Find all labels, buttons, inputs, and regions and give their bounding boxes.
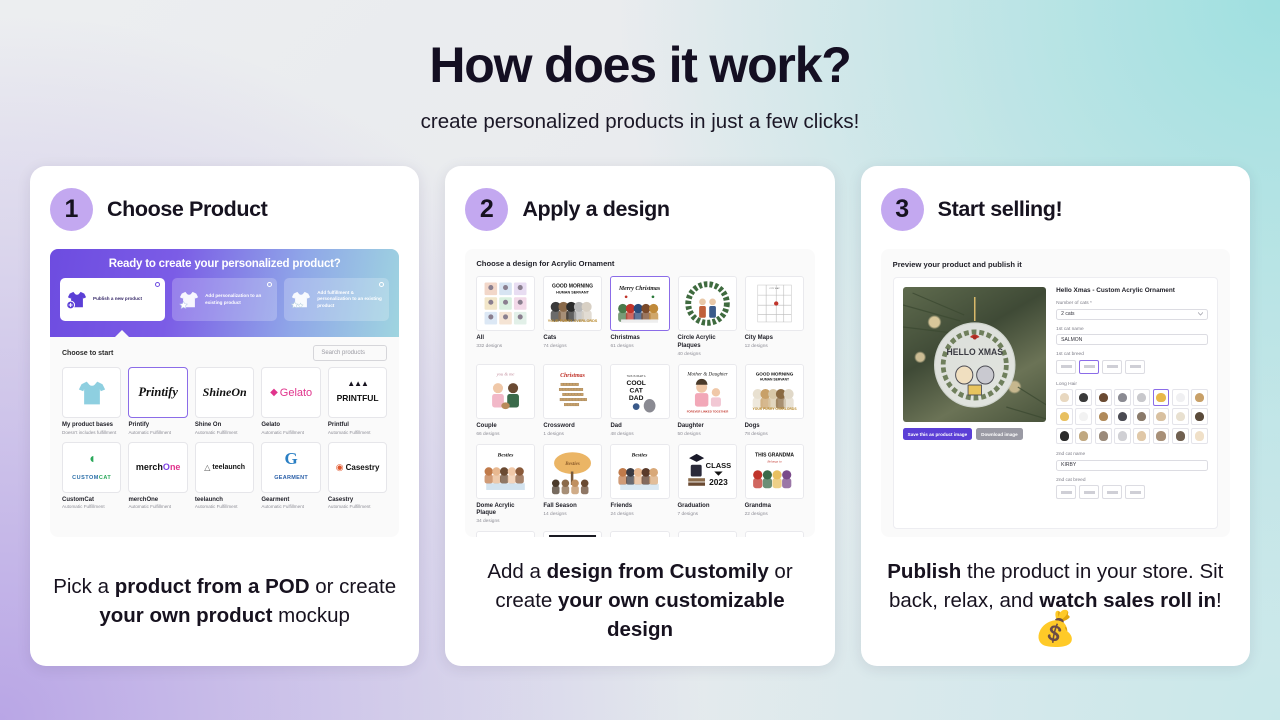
pod-provider-name: Printful	[328, 422, 387, 428]
choose-to-start-bar: Choose to start Search products	[50, 337, 399, 367]
caption-strong: your own product	[99, 604, 272, 627]
pod-provider-name: Gelato	[261, 422, 320, 428]
design-grid: All332 designsGOOD MORNINGHUMAN SERVANTY…	[476, 276, 803, 537]
design-count: 66 designs	[476, 432, 535, 437]
design-category-name: Dad	[610, 423, 669, 431]
design-thumbnail: you & me	[476, 364, 535, 419]
design-category-name: Grandma	[745, 503, 804, 511]
pod-provider-name: merchOne	[128, 497, 187, 503]
design-count: 40 designs	[678, 352, 737, 357]
pod-provider-name: Printify	[128, 422, 187, 428]
design-thumbnail: GOOD MORNINGHUMAN SERVANTYOUR FURRY OVER…	[745, 364, 804, 419]
step-3-header: 3 Start selling!	[881, 188, 1230, 231]
design-category-card[interactable]: TELL MEI love you	[610, 531, 669, 537]
design-category-name: Fall Season	[543, 503, 602, 511]
pod-provider-card[interactable]: ▲▲▲PRINTFULPrintfulAutomatic Fulfillment	[328, 367, 387, 435]
pod-provider-logo: ◉Casestry	[328, 442, 387, 493]
pod-provider-name: My product bases	[62, 422, 121, 428]
svg-text:Besties: Besties	[497, 452, 514, 458]
step-1-header: 1 Choose Product	[50, 188, 399, 231]
svg-text:GOOD MORNING: GOOD MORNING	[755, 371, 793, 376]
pod-provider-logo: ▲▲▲PRINTFUL	[328, 367, 387, 418]
tshirt-star-icon	[178, 290, 200, 310]
svg-text:FOREVER LINKED TOGETHER: FOREVER LINKED TOGETHER	[686, 409, 728, 413]
caption-text: mockup	[272, 604, 349, 627]
pod-hero-banner: Ready to create your personalized produc…	[50, 249, 399, 337]
design-thumbnail: THIS GRANDMABelongs to	[745, 444, 804, 499]
svg-text:DAD: DAD	[629, 394, 644, 401]
steps-container: 1 Choose Product Ready to create your pe…	[0, 166, 1280, 666]
svg-text:THIS IS WHAT A: THIS IS WHAT A	[627, 375, 646, 378]
design-category-card[interactable]: Circle Acrylic Plaques40 designs	[678, 276, 737, 357]
cat-color-swatch[interactable]	[1056, 428, 1073, 445]
pod-provider-card[interactable]: ShineOnShine OnAutomatic Fulfillment	[195, 367, 254, 435]
design-category-card[interactable]: you & meCouple66 designs	[476, 364, 535, 437]
design-count: 24 designs	[610, 512, 669, 517]
step-card-1: 1 Choose Product Ready to create your pe…	[30, 166, 419, 666]
design-category-name: Cats	[543, 335, 602, 343]
caption-strong: your own customizable design	[558, 589, 785, 641]
preview-actions: Save this as product image Download imag…	[903, 428, 1047, 440]
choose-to-start-label: Choose to start	[62, 350, 113, 357]
cat-swatch-grid	[1056, 389, 1208, 444]
design-category-name: Daughter	[678, 423, 737, 431]
pod-provider-logo: ◖CUSTOMCAT	[62, 442, 121, 493]
pod-provider-name: Shine On	[195, 422, 254, 428]
pod-provider-logo: GGEARMENT	[261, 442, 320, 493]
design-thumbnail: TELL MEI love you	[610, 531, 669, 537]
caption-text: !	[1216, 589, 1222, 612]
second-cat-breed-chips	[1056, 485, 1208, 499]
svg-text:HUMAN SERVANT: HUMAN SERVANT	[557, 290, 590, 294]
caption-text: or create	[310, 575, 397, 598]
cat-color-swatch[interactable]	[1114, 408, 1131, 425]
cat-color-swatch[interactable]	[1075, 428, 1092, 445]
first-cat-name-input[interactable]: SALMON	[1056, 334, 1208, 345]
pod-provider-fulfillment: Automatic Fulfillment	[328, 430, 387, 435]
design-category-card[interactable]: TELL MEI love you	[745, 531, 804, 537]
caption-text: Add a	[487, 560, 546, 583]
design-category-card[interactable]: ChristmasCrossword1 designs	[543, 364, 602, 437]
svg-text:YOUR FURRY OVERLORDS: YOUR FURRY OVERLORDS	[548, 319, 598, 323]
step-caption-2: Add a design from Customily or create yo…	[465, 553, 814, 648]
pod-provider-name: Casestry	[328, 497, 387, 503]
cat-color-swatch[interactable]	[1075, 389, 1092, 406]
info-icon[interactable]	[379, 282, 384, 287]
design-category-card[interactable]: BestiesDome Acrylic Plaque34 designs	[476, 444, 535, 525]
design-category-card[interactable]: GOOD MORNINGHUMAN SERVANTYOUR FURRY OVER…	[745, 364, 804, 437]
pod-provider-logo	[62, 367, 121, 418]
svg-text:you & me: you & me	[496, 371, 515, 376]
step-title-1: Choose Product	[107, 197, 267, 222]
design-thumbnail: CITY MAP	[745, 276, 804, 331]
screenshot-design-picker: Choose a design for Acrylic Ornament All…	[465, 249, 814, 537]
svg-text:Merry Christmas: Merry Christmas	[618, 286, 661, 292]
pod-provider-fulfillment: Automatic Fulfillment	[128, 430, 187, 435]
design-count: 78 designs	[745, 432, 804, 437]
pod-provider-logo: ◆Gelato	[261, 367, 320, 418]
cat-color-swatch[interactable]	[1172, 389, 1189, 406]
select-value: 2 cats	[1061, 311, 1074, 317]
breed-chip[interactable]	[1056, 360, 1076, 374]
save-as-product-image-button[interactable]: Save this as product image	[903, 428, 972, 440]
pod-provider-card[interactable]: ◖CUSTOMCATCustomCatAutomatic Fulfillment	[62, 442, 121, 510]
money-bag-emoji: 💰	[1034, 610, 1076, 648]
svg-text:Christmas: Christmas	[561, 373, 586, 379]
design-thumbnail: GOOD MORNINGHUMAN SERVANTYOUR FURRY OVER…	[543, 276, 602, 331]
design-category-card[interactable]: TO THE MOON	[476, 531, 535, 537]
pod-provider-fulfillment: Automatic Fulfillment	[261, 504, 320, 509]
svg-text:HUMAN SERVANT: HUMAN SERVANT	[760, 377, 789, 381]
design-count: 1 designs	[543, 432, 602, 437]
pod-provider-fulfillment: Automatic Fulfillment	[62, 504, 121, 509]
step-caption-3: Publish the product in your store. Sit b…	[881, 553, 1230, 648]
svg-text:Besties: Besties	[565, 461, 581, 466]
design-count: 7 designs	[678, 512, 737, 517]
design-category-card[interactable]: CITY MAPCity Maps12 designs	[745, 276, 804, 357]
preview-image-column: HELLO XMAS Save this as product image Do…	[903, 287, 1047, 519]
design-count: 22 designs	[745, 512, 804, 517]
design-count: 34 designs	[476, 519, 535, 524]
design-category-card[interactable]: BestiesFriends24 designs	[610, 444, 669, 525]
screenshot-publish-preview: Preview your product and publish it	[881, 249, 1230, 537]
design-thumbnail: Besties	[543, 444, 602, 499]
cat-color-swatch[interactable]	[1133, 428, 1150, 445]
design-category-name: Circle Acrylic Plaques	[678, 335, 737, 350]
svg-text:2023: 2023	[709, 476, 728, 486]
breed-chip-selected[interactable]	[1079, 360, 1099, 374]
pod-provider-card[interactable]: merchOnemerchOneAutomatic Fulfillment	[128, 442, 187, 510]
screenshot-product-picker: Ready to create your personalized produc…	[50, 249, 399, 537]
svg-text:CLASS: CLASS	[705, 461, 731, 470]
pod-provider-name: Gearment	[261, 497, 320, 503]
design-category-name: Friends	[610, 503, 669, 511]
design-count: 61 designs	[610, 344, 669, 349]
download-image-button[interactable]: Download image	[976, 428, 1023, 440]
design-category-card[interactable]: Mother & DaughterFOREVER LINKED TOGETHER…	[678, 364, 737, 437]
design-thumbnail: CLASS2023	[678, 444, 737, 499]
pod-provider-card[interactable]: My product basesDoesn't includes fulfill…	[62, 367, 121, 435]
design-thumbnail	[476, 276, 535, 331]
second-cat-name-label: 2nd cat name	[1056, 452, 1208, 457]
info-icon[interactable]	[267, 282, 272, 287]
svg-text:Belongs to: Belongs to	[767, 459, 782, 463]
design-category-name: Christmas	[610, 335, 669, 343]
svg-text:Mother & Daughter: Mother & Daughter	[686, 372, 727, 377]
cat-color-swatch[interactable]	[1095, 428, 1112, 445]
input-value: KIRBY	[1061, 462, 1076, 468]
design-thumbnail: TO THE MOON	[476, 531, 535, 537]
pod-provider-card[interactable]: ◉CasestryCasestryAutomatic Fulfillment	[328, 442, 387, 510]
svg-text:YOUR FURRY OVERLORDS: YOUR FURRY OVERLORDS	[752, 406, 797, 410]
chevron-down-icon	[1198, 312, 1203, 316]
design-category-name: Dome Acrylic Plaque	[476, 503, 535, 518]
pod-provider-fulfillment: Doesn't includes fulfillment	[62, 430, 121, 435]
step-title-2: Apply a design	[522, 197, 669, 222]
design-category-card[interactable]: All332 designs	[476, 276, 535, 357]
design-category-card[interactable]: GOOD MORNINGHUMAN SERVANTYOUR FURRY OVER…	[543, 276, 602, 357]
pod-provider-logo: merchOne	[128, 442, 187, 493]
pod-provider-card[interactable]: ◆GelatoGelatoAutomatic Fulfillment	[261, 367, 320, 435]
design-category-card[interactable]: Merry ChristmasChristmas61 designs	[610, 276, 669, 357]
svg-text:THIS GRANDMA: THIS GRANDMA	[755, 452, 794, 458]
ornament-preview-image: HELLO XMAS	[903, 287, 1047, 422]
svg-text:HELLO XMAS: HELLO XMAS	[946, 347, 1003, 357]
design-thumbnail: Besties	[610, 444, 669, 499]
cat-color-swatch[interactable]	[1114, 389, 1131, 406]
product-name: Hello Xmas - Custom Acrylic Ornament	[1056, 287, 1208, 294]
step-card-2: 2 Apply a design Choose a design for Acr…	[445, 166, 834, 666]
design-category-name: Couple	[476, 423, 535, 431]
pod-provider-fulfillment: Automatic Fulfillment	[261, 430, 320, 435]
pod-provider-fulfillment: Automatic Fulfillment	[128, 504, 187, 509]
number-of-cats-select[interactable]: 2 cats	[1056, 309, 1208, 320]
design-thumbnail: Merry Christmas	[610, 276, 669, 331]
design-thumbnail: Christmas	[543, 364, 602, 419]
breed-chip[interactable]	[1125, 485, 1145, 499]
cat-color-swatch[interactable]	[1153, 408, 1170, 425]
pod-provider-fulfillment: Automatic Fulfillment	[328, 504, 387, 509]
design-count: 50 designs	[678, 432, 737, 437]
pod-provider-fulfillment: Automatic Fulfillment	[195, 430, 254, 435]
cat-color-swatch[interactable]	[1056, 408, 1073, 425]
pod-provider-logo: Printify	[128, 367, 187, 418]
design-category-name: City Maps	[745, 335, 804, 343]
step-card-3: 3 Start selling! Preview your product an…	[861, 166, 1250, 666]
design-thumbnail: PROUD MEMBER OFDogMom	[678, 531, 737, 537]
design-category-name: Crossword	[543, 423, 602, 431]
design-count: 14 designs	[543, 512, 602, 517]
second-cat-breed-label: 2nd cat breed	[1056, 478, 1208, 483]
page-subtitle: create personalized products in just a f…	[0, 110, 1280, 134]
design-thumbnail: THIS IS WHAT ACOOLCATDAD	[610, 364, 669, 419]
step-2-header: 2 Apply a design	[465, 188, 814, 231]
design-category-card[interactable]: PROUD MEMBER OFDogMom	[678, 531, 737, 537]
design-count: 74 designs	[543, 344, 602, 349]
design-thumbnail: TRICKTREAT	[543, 531, 602, 537]
pod-provider-logo: ShineOn	[195, 367, 254, 418]
cat-color-swatch[interactable]	[1133, 408, 1150, 425]
design-count: 332 designs	[476, 344, 535, 349]
design-category-card[interactable]: TRICKTREAT	[543, 531, 602, 537]
cat-color-swatch[interactable]	[1191, 408, 1208, 425]
design-thumbnail	[678, 276, 737, 331]
design-category-name: Dogs	[745, 423, 804, 431]
preview-title: Preview your product and publish it	[893, 260, 1218, 269]
breed-chip[interactable]	[1056, 485, 1076, 499]
info-icon[interactable]	[155, 282, 160, 287]
design-thumbnail: Mother & DaughterFOREVER LINKED TOGETHER	[678, 364, 737, 419]
number-of-cats-label: Number of cats *	[1056, 301, 1208, 306]
caption-text: Pick a	[53, 575, 115, 598]
first-cat-breed-chips	[1056, 360, 1208, 374]
svg-text:Besties: Besties	[631, 452, 648, 458]
tile-label: Add personalization to an existing produ…	[205, 293, 271, 306]
page-title: How does it work?	[0, 0, 1280, 94]
hero-title: Ready to create your personalized produc…	[60, 258, 389, 270]
tile-add-personalization[interactable]: Add personalization to an existing produ…	[172, 278, 277, 321]
preview-panel: HELLO XMAS Save this as product image Do…	[893, 277, 1218, 529]
pod-provider-name: teelaunch	[195, 497, 254, 503]
tile-add-fulfillment[interactable]: Add fulfillment & personalization to an …	[284, 278, 389, 321]
design-category-card[interactable]: THIS IS WHAT ACOOLCATDADDad48 designs	[610, 364, 669, 437]
step-title-3: Start selling!	[938, 197, 1063, 222]
svg-text:CITY MAP: CITY MAP	[769, 287, 780, 290]
first-cat-name-label: 1st cat name	[1056, 327, 1208, 332]
pod-provider-fulfillment: Automatic Fulfillment	[195, 504, 254, 509]
long-hair-label: Long Hair	[1056, 382, 1208, 387]
hero-tiles: Publish a new product Add personalizatio…	[60, 278, 389, 321]
design-category-card[interactable]: THIS GRANDMABelongs toGrandma22 designs	[745, 444, 804, 525]
cat-color-swatch-selected[interactable]	[1153, 389, 1170, 406]
caption-strong: watch sales roll in	[1039, 589, 1216, 612]
breed-chip[interactable]	[1125, 360, 1145, 374]
svg-text:CAT: CAT	[630, 387, 644, 394]
breed-chip[interactable]	[1079, 485, 1099, 499]
pod-provider-card[interactable]: △teelaunchteelaunchAutomatic Fulfillment	[195, 442, 254, 510]
breed-chip[interactable]	[1102, 485, 1122, 499]
tile-label: Publish a new product	[93, 296, 142, 302]
product-options-form: Hello Xmas - Custom Acrylic Ornament Num…	[1056, 287, 1208, 519]
design-category-card[interactable]: BestiesFall Season14 designs	[543, 444, 602, 525]
pod-provider-name: CustomCat	[62, 497, 121, 503]
step-caption-1: Pick a product from a POD or create your…	[50, 553, 399, 648]
design-thumbnail: Besties	[476, 444, 535, 499]
second-cat-name-input[interactable]: KIRBY	[1056, 460, 1208, 471]
tile-publish-new-product[interactable]: Publish a new product	[60, 278, 165, 321]
step-number-badge-2: 2	[465, 188, 508, 231]
design-count: 12 designs	[745, 344, 804, 349]
design-thumbnail: TELL MEI love you	[745, 531, 804, 537]
first-cat-breed-label: 1st cat breed	[1056, 352, 1208, 357]
pod-provider-grid: My product basesDoesn't includes fulfill…	[50, 367, 399, 509]
design-count: 48 designs	[610, 432, 669, 437]
cat-color-swatch[interactable]	[1172, 408, 1189, 425]
cat-color-swatch[interactable]	[1191, 428, 1208, 445]
cat-color-swatch[interactable]	[1056, 389, 1073, 406]
design-picker-title: Choose a design for Acrylic Ornament	[476, 259, 803, 268]
step-number-badge-1: 1	[50, 188, 93, 231]
pod-provider-card[interactable]: GGEARMENTGearmentAutomatic Fulfillment	[261, 442, 320, 510]
svg-text:GOOD MORNING: GOOD MORNING	[552, 284, 593, 290]
design-category-card[interactable]: CLASS2023Graduation7 designs	[678, 444, 737, 525]
cat-color-swatch[interactable]	[1095, 408, 1112, 425]
input-value: SALMON	[1061, 337, 1082, 343]
breed-chip[interactable]	[1102, 360, 1122, 374]
step-number-badge-3: 3	[881, 188, 924, 231]
caption-strong: design from Customily	[547, 560, 769, 583]
cat-color-swatch[interactable]	[1153, 428, 1170, 445]
cat-color-swatch[interactable]	[1095, 389, 1112, 406]
tshirt-stars-icon	[290, 290, 312, 310]
search-products-input[interactable]: Search products	[313, 345, 387, 361]
active-tile-pointer	[114, 330, 130, 338]
tile-label: Add fulfillment & personalization to an …	[317, 290, 383, 309]
design-category-name: All	[476, 335, 535, 343]
pod-provider-logo: △teelaunch	[195, 442, 254, 493]
caption-strong: product from a POD	[115, 575, 310, 598]
cat-color-swatch[interactable]	[1172, 428, 1189, 445]
tshirt-plus-icon	[66, 290, 88, 310]
caption-strong: Publish	[887, 560, 961, 583]
design-category-name: Graduation	[678, 503, 737, 511]
svg-text:COOL: COOL	[627, 379, 646, 386]
cat-color-swatch[interactable]	[1133, 389, 1150, 406]
pod-provider-card[interactable]: PrintifyPrintifyAutomatic Fulfillment	[128, 367, 187, 435]
cat-color-swatch[interactable]	[1075, 408, 1092, 425]
cat-color-swatch[interactable]	[1114, 428, 1131, 445]
cat-color-swatch[interactable]	[1191, 389, 1208, 406]
